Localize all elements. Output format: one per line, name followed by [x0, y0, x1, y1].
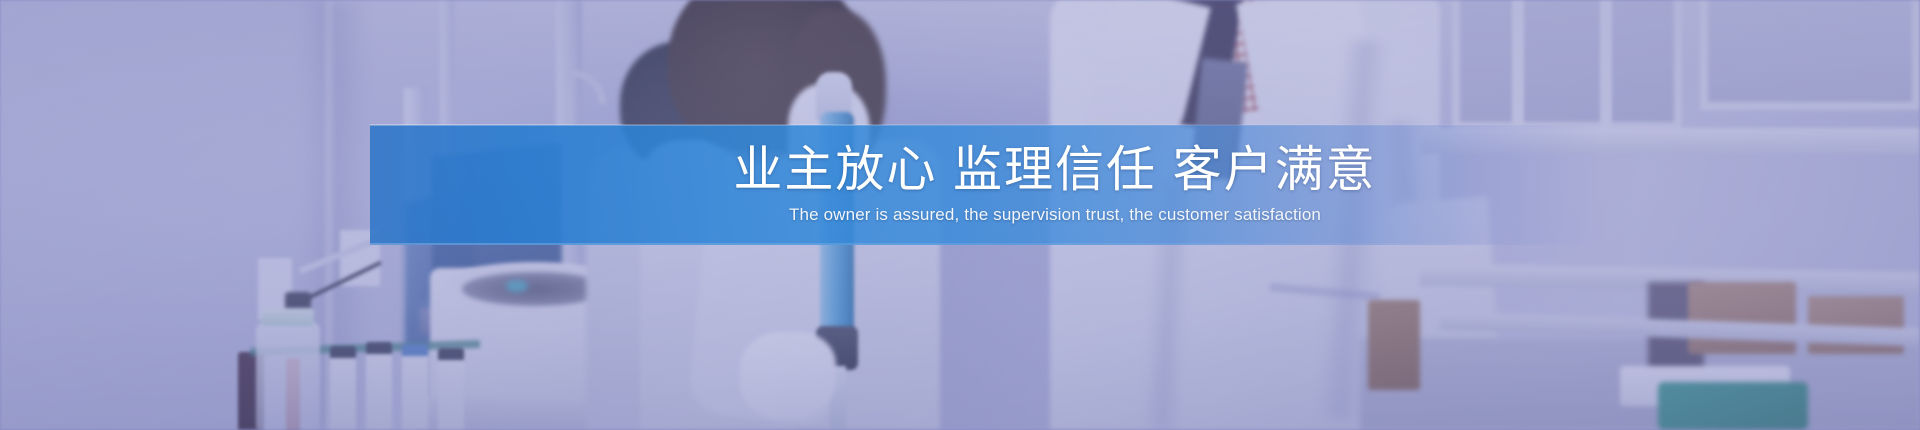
slogan-subline-english: The owner is assured, the supervision tr…	[789, 205, 1321, 225]
slogan-headline-chinese: 业主放心 监理信任 客户满意	[733, 145, 1376, 197]
hero-banner: 业主放心 监理信任 客户满意 The owner is assured, the…	[0, 0, 1920, 430]
slogan-text-block: 业主放心 监理信任 客户满意 The owner is assured, the…	[370, 125, 1600, 245]
